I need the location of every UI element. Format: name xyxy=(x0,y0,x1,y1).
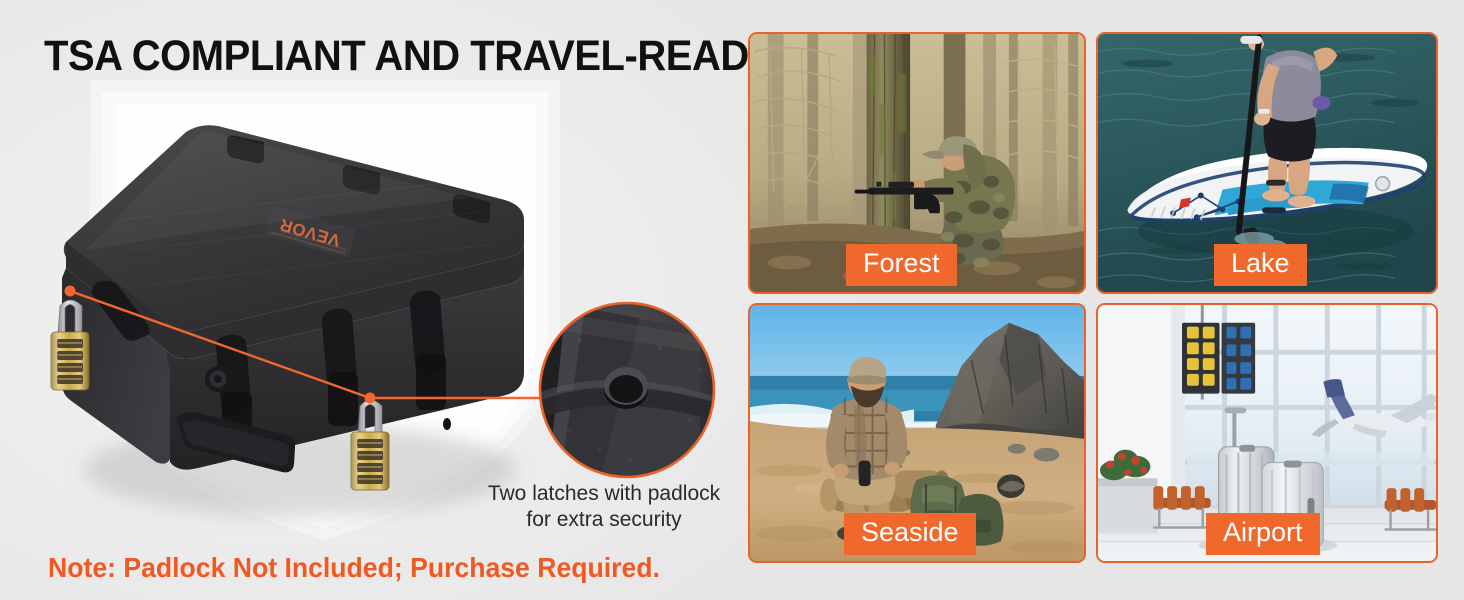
scenario-tile-seaside[interactable]: Seaside xyxy=(748,303,1086,563)
product-feature-panel: TSA COMPLIANT AND TRAVEL-READY xyxy=(0,0,742,600)
padlock-note: Note: Padlock Not Included; Purchase Req… xyxy=(48,552,660,584)
tile-label-forest: Forest xyxy=(846,244,957,286)
planter xyxy=(1098,450,1157,534)
usage-scenario-grid: Forest xyxy=(748,32,1438,563)
scenario-tile-airport[interactable]: Airport xyxy=(1096,303,1438,563)
scenario-tile-forest[interactable]: Forest xyxy=(748,32,1086,294)
callout-line-2: for extra security xyxy=(470,507,738,533)
scenario-tile-lake[interactable]: Lake xyxy=(1096,32,1438,294)
callout-dot-right xyxy=(365,393,376,404)
tile-label-lake: Lake xyxy=(1214,244,1307,286)
tile-label-airport: Airport xyxy=(1206,513,1320,555)
callout-line-1: Two latches with padlock xyxy=(470,481,738,507)
latch-callout-caption: Two latches with padlock for extra secur… xyxy=(470,481,738,534)
callout-dot-left xyxy=(65,286,76,297)
tile-label-seaside: Seaside xyxy=(844,513,976,555)
